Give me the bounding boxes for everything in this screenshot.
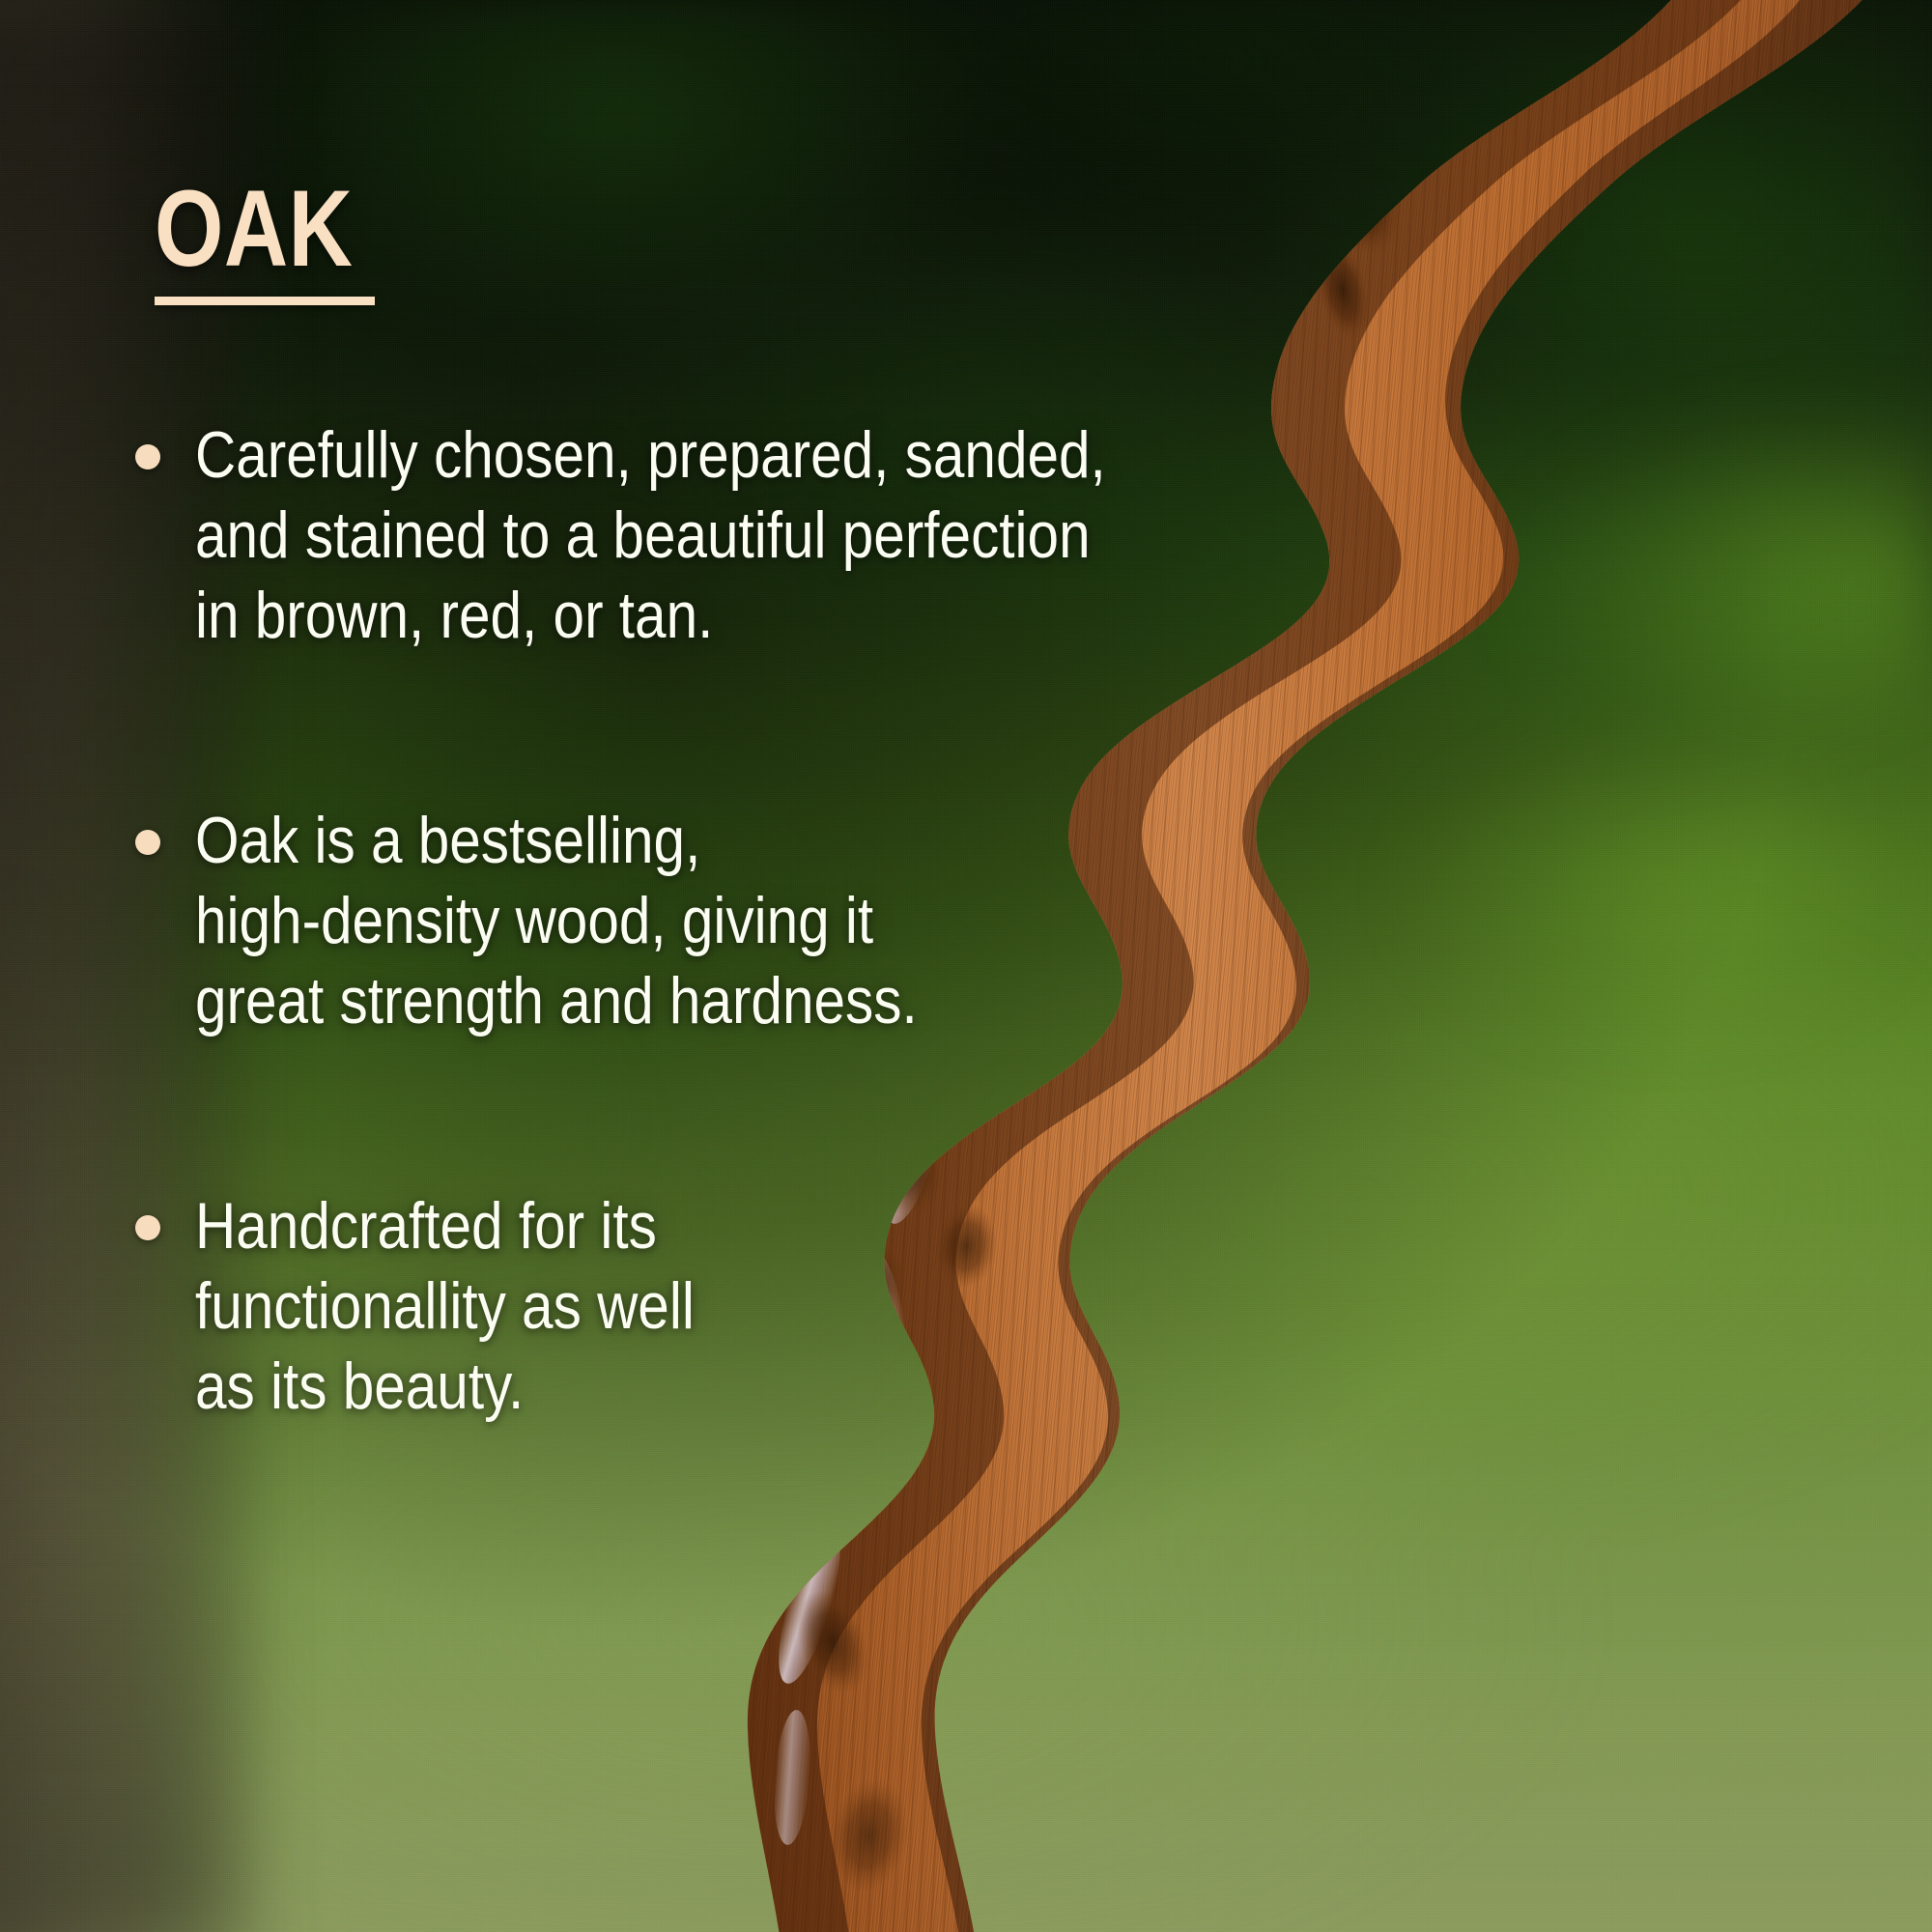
feature-bullet-list: Carefully chosen, prepared, sanded, and … (135, 415, 1063, 1427)
list-item: Handcrafted for its functionallity as we… (135, 1186, 1063, 1427)
bullet-line: great strength and hardness. (195, 961, 941, 1041)
bullet-text: Oak is a bestselling, high-density wood,… (195, 801, 1063, 1041)
bullet-line: as its beauty. (195, 1347, 941, 1427)
bullet-text: Carefully chosen, prepared, sanded, and … (195, 415, 1254, 656)
bullet-line: Handcrafted for its (195, 1186, 941, 1266)
title-underline-rule (155, 297, 375, 305)
bullet-dot-icon (135, 1215, 160, 1240)
feature-graphic-canvas: OAK Carefully chosen, prepared, sanded, … (0, 0, 1932, 1932)
bullet-line: functionallity as well (195, 1266, 941, 1347)
list-item: Oak is a bestselling, high-density wood,… (135, 801, 1063, 1041)
bullet-line: and stained to a beautiful perfection (195, 496, 1106, 576)
bullet-text: Handcrafted for its functionallity as we… (195, 1186, 1063, 1427)
bullet-line: Carefully chosen, prepared, sanded, (195, 415, 1106, 496)
bullet-dot-icon (135, 830, 160, 855)
bullet-line: Oak is a bestselling, (195, 801, 941, 881)
page-title: OAK (155, 178, 353, 279)
bullet-line: high-density wood, giving it (195, 881, 941, 961)
list-item: Carefully chosen, prepared, sanded, and … (135, 415, 1063, 656)
title-block: OAK (155, 178, 396, 305)
bullet-dot-icon (135, 444, 160, 469)
bullet-line: in brown, red, or tan. (195, 576, 1106, 656)
